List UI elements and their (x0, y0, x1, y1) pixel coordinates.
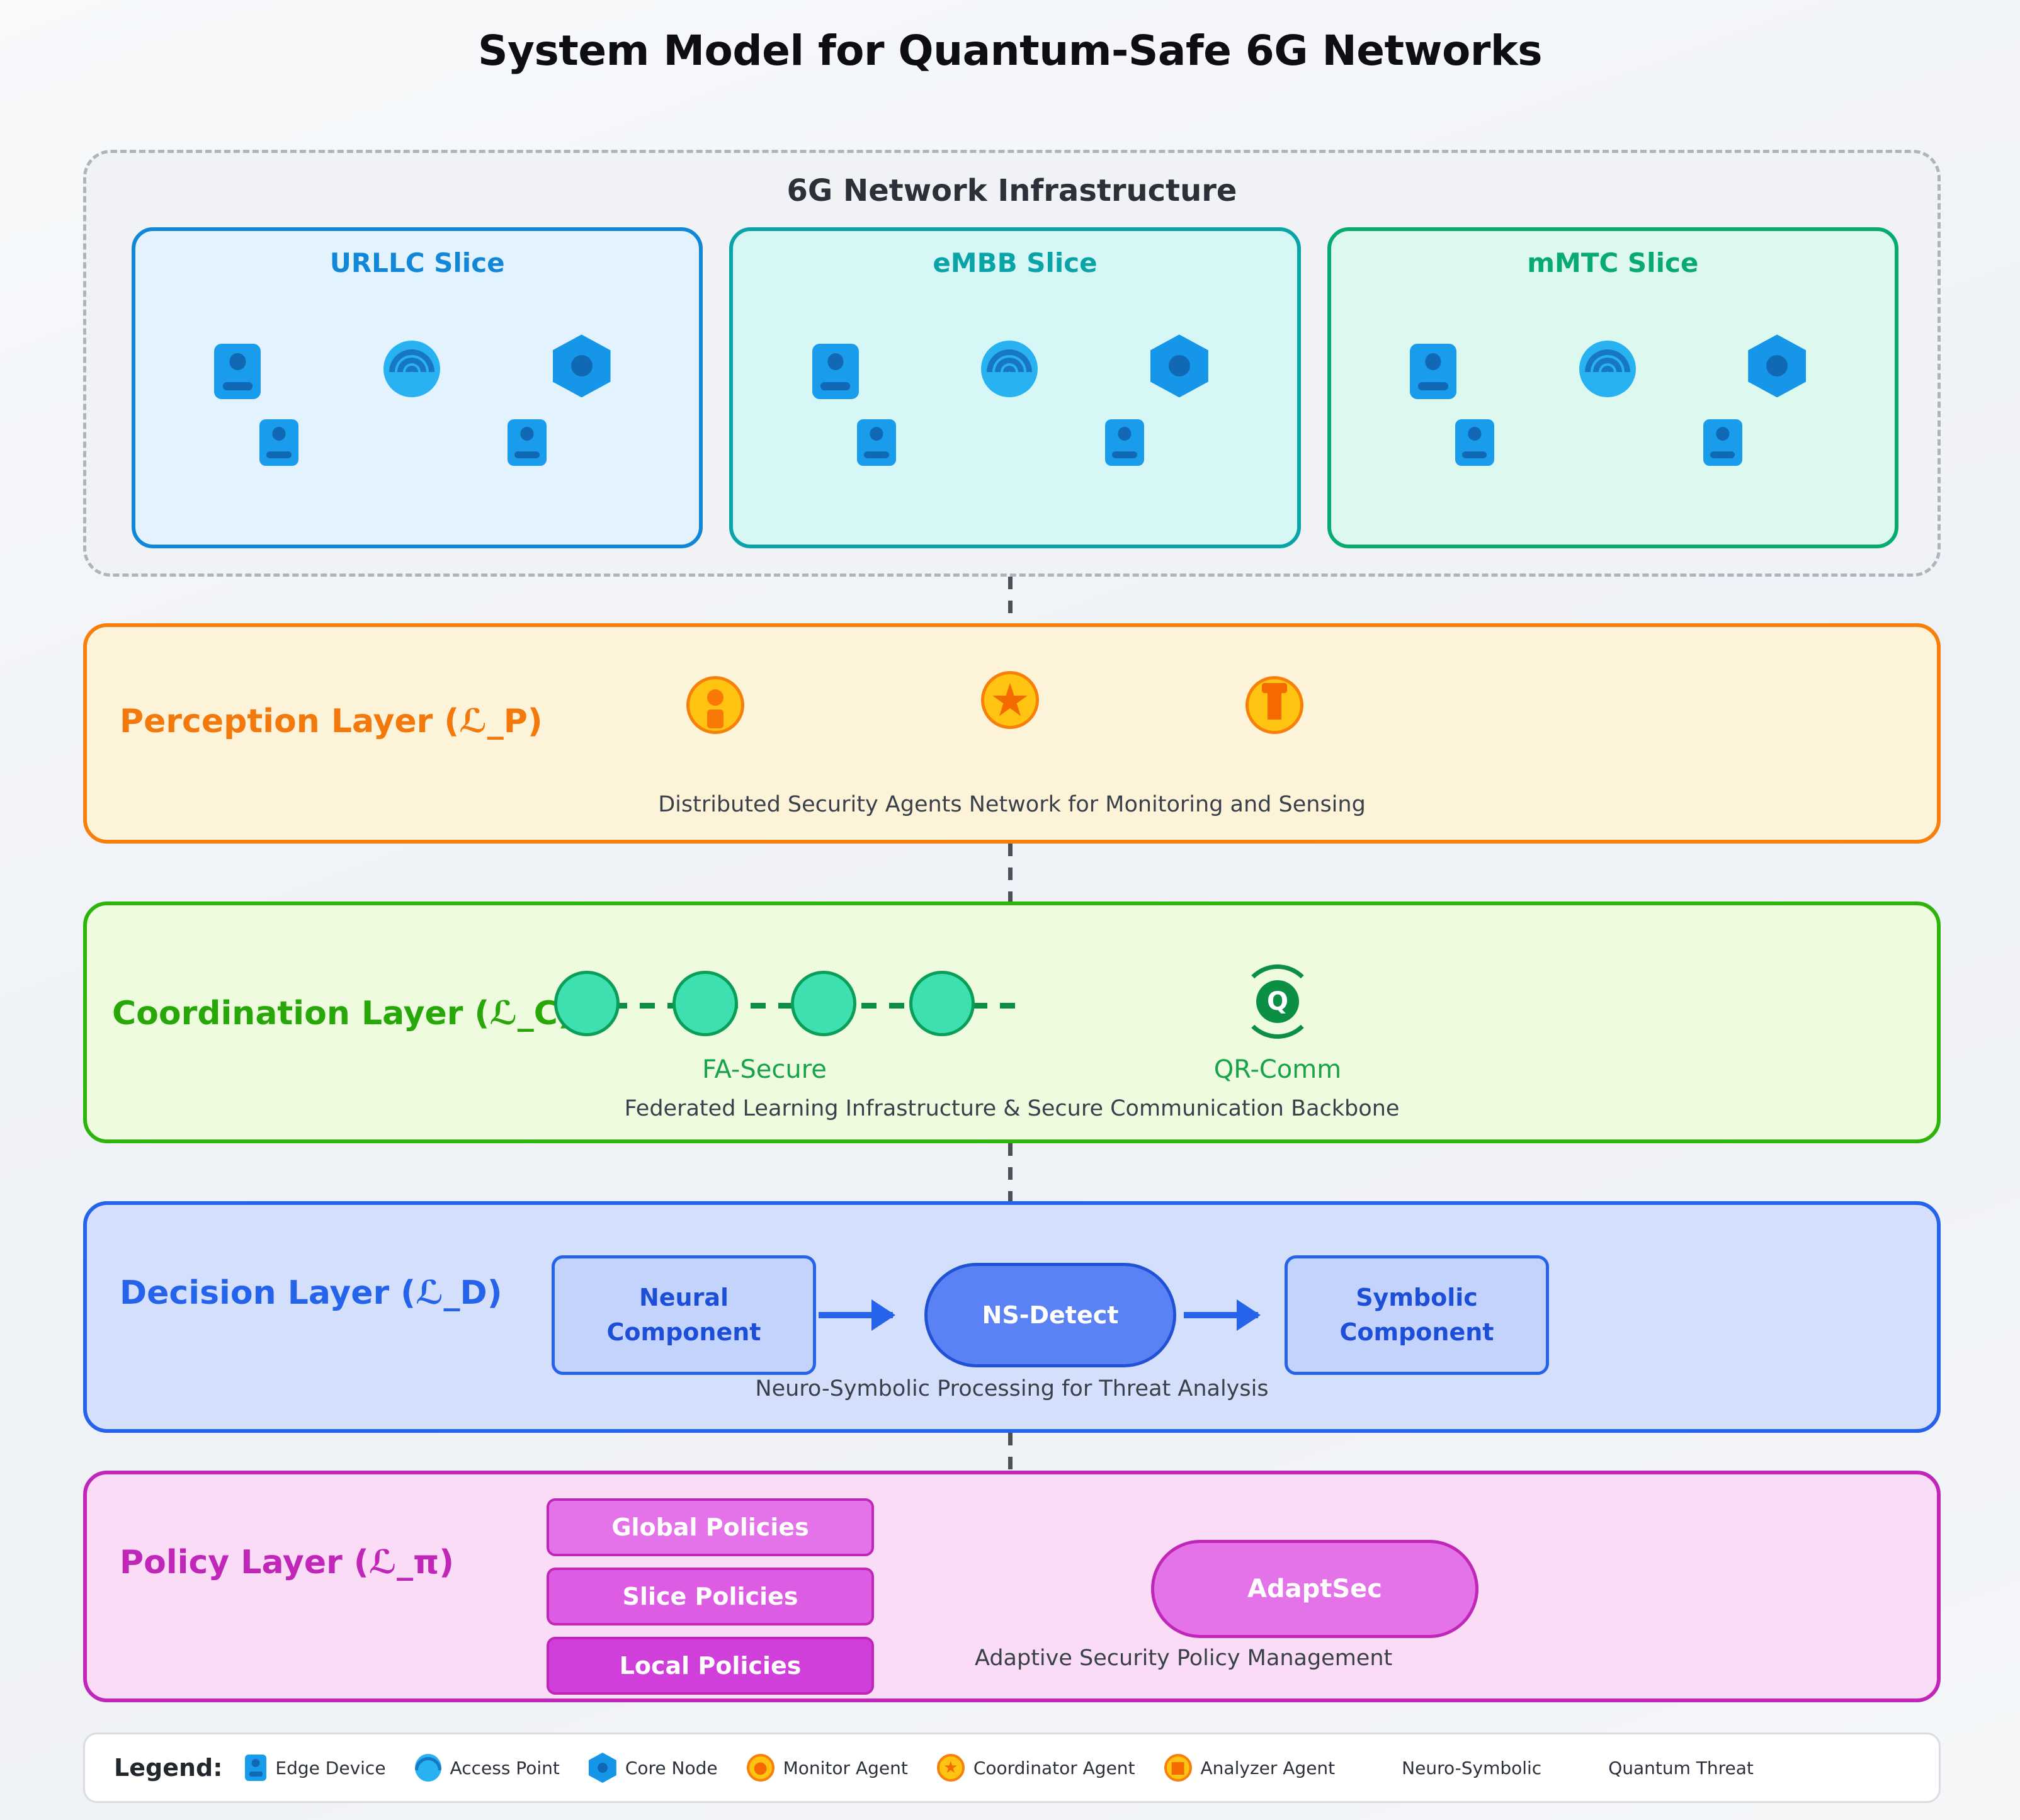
adaptsec-node[interactable]: AdaptSec (1151, 1540, 1478, 1638)
policy-pill-global[interactable]: Global Policies (547, 1498, 874, 1556)
arrow-neural-to-nsdetect (819, 1312, 893, 1318)
legend-item-core-node: Core Node (589, 1753, 718, 1783)
perception-layer-title: Perception Layer (ℒ_P) (120, 703, 543, 740)
policy-layer[interactable]: Policy Layer (ℒ_π) Global Policies Slice… (83, 1471, 1941, 1702)
analyzer-agent-icon: ■ (1164, 1754, 1192, 1782)
legend-item-label: Access Point (450, 1758, 560, 1778)
legend-item-label: Analyzer Agent (1201, 1758, 1336, 1778)
connector-coordination-decision (1008, 1143, 1013, 1201)
legend-label: Legend: (114, 1754, 222, 1782)
edge-device-icon (812, 344, 859, 399)
monitor-agent-icon: ● (747, 1754, 775, 1782)
qr-comm-label: QR-Comm (1164, 1055, 1392, 1084)
access-point-icon (383, 341, 440, 397)
policy-layer-subtitle: Adaptive Security Policy Management (975, 1646, 1392, 1671)
diagram-canvas: System Model for Quantum-Safe 6G Network… (0, 0, 2020, 1820)
core-node-icon (589, 1753, 616, 1783)
legend-item-analyzer-agent: ■ Analyzer Agent (1164, 1754, 1336, 1782)
page-title: System Model for Quantum-Safe 6G Network… (0, 26, 2020, 75)
legend-item-label: Core Node (625, 1758, 718, 1778)
decision-layer-title: Decision Layer (ℒ_D) (120, 1274, 502, 1312)
edge-device-icon (1105, 419, 1144, 466)
coordinator-agent-icon: ★ (981, 671, 1039, 729)
symbolic-component-box[interactable]: Symbolic Component (1285, 1255, 1549, 1375)
qr-comm-icon: Q (1240, 964, 1315, 1039)
federated-node (672, 971, 738, 1036)
legend-item-label: Coordinator Agent (973, 1758, 1135, 1778)
legend-item-label: Quantum Threat (1608, 1758, 1754, 1778)
symbolic-component-line1: Symbolic (1356, 1280, 1478, 1315)
access-point-icon (1579, 341, 1636, 397)
legend-item-label: Neuro-Symbolic (1402, 1758, 1541, 1778)
perception-layer[interactable]: Perception Layer (ℒ_P) ★ Distributed Sec… (83, 623, 1941, 844)
core-node-icon (553, 334, 611, 397)
perception-layer-subtitle: Distributed Security Agents Network for … (87, 792, 1937, 817)
decision-layer-subtitle: Neuro-Symbolic Processing for Threat Ana… (87, 1376, 1937, 1401)
legend-item-access-point: Access Point (415, 1754, 560, 1782)
infrastructure-container: 6G Network Infrastructure URLLC Slice eM… (83, 150, 1941, 577)
policy-pill-local[interactable]: Local Policies (547, 1637, 874, 1695)
federated-node (791, 971, 856, 1036)
decision-layer[interactable]: Decision Layer (ℒ_D) Neural Component NS… (83, 1201, 1941, 1433)
edge-device-icon (245, 1755, 266, 1781)
edge-device-icon (1703, 419, 1742, 466)
infrastructure-title: 6G Network Infrastructure (86, 173, 1938, 208)
legend-item-edge-device: Edge Device (245, 1755, 385, 1781)
edge-device-icon (214, 344, 261, 399)
access-point-icon (981, 341, 1038, 397)
edge-device-icon (508, 419, 547, 466)
legend-item-quantum-threat: Quantum Threat (1608, 1758, 1754, 1778)
slice-urllc[interactable]: URLLC Slice (132, 227, 703, 548)
core-node-icon (1748, 334, 1806, 397)
qr-comm-glyph: Q (1256, 980, 1299, 1023)
monitor-agent-icon (686, 676, 744, 734)
edge-device-icon (1410, 344, 1456, 399)
analyzer-agent-icon (1245, 676, 1303, 734)
symbolic-component-line2: Component (1340, 1315, 1494, 1350)
edge-device-icon (259, 419, 298, 466)
legend-item-monitor-agent: ● Monitor Agent (747, 1754, 908, 1782)
slice-title: mMTC Slice (1331, 247, 1895, 278)
edge-device-icon (857, 419, 896, 466)
legend-item-neuro-symbolic: Neuro-Symbolic (1402, 1758, 1541, 1778)
neural-component-box[interactable]: Neural Component (552, 1255, 816, 1375)
connector-infra-perception (1008, 577, 1013, 623)
connector-decision-policy (1008, 1433, 1013, 1471)
neural-component-line1: Neural (639, 1280, 729, 1315)
coordination-layer[interactable]: Coordination Layer (ℒ_C) FA-Secure Q QR-… (83, 902, 1941, 1143)
legend-item-label: Monitor Agent (783, 1758, 908, 1778)
legend-item-label: Edge Device (275, 1758, 385, 1778)
slice-title: eMBB Slice (733, 247, 1297, 278)
policy-layer-title: Policy Layer (ℒ_π) (120, 1544, 454, 1581)
legend-item-coordinator-agent: ★ Coordinator Agent (937, 1754, 1135, 1782)
policy-pill-slice[interactable]: Slice Policies (547, 1568, 874, 1625)
ns-detect-node[interactable]: NS-Detect (924, 1263, 1176, 1367)
neural-component-line2: Component (607, 1315, 761, 1350)
fa-secure-label: FA-Secure (554, 1055, 975, 1084)
slice-row: URLLC Slice eMBB Slice mMTC Slice (132, 227, 1898, 548)
slice-embb[interactable]: eMBB Slice (729, 227, 1300, 548)
federated-node (909, 971, 975, 1036)
coordination-layer-subtitle: Federated Learning Infrastructure & Secu… (87, 1096, 1937, 1121)
legend: Legend: Edge Device Access Point Core No… (83, 1732, 1941, 1803)
slice-title: URLLC Slice (135, 247, 699, 278)
edge-device-icon (1455, 419, 1494, 466)
coordinator-agent-icon: ★ (937, 1754, 965, 1782)
connector-perception-coordination (1008, 844, 1013, 902)
core-node-icon (1150, 334, 1208, 397)
coordination-layer-title: Coordination Layer (ℒ_C) (112, 995, 573, 1032)
arrow-nsdetect-to-symbolic (1184, 1312, 1258, 1318)
federated-node (554, 971, 620, 1036)
access-point-icon (415, 1754, 441, 1782)
slice-mmtc[interactable]: mMTC Slice (1327, 227, 1898, 548)
